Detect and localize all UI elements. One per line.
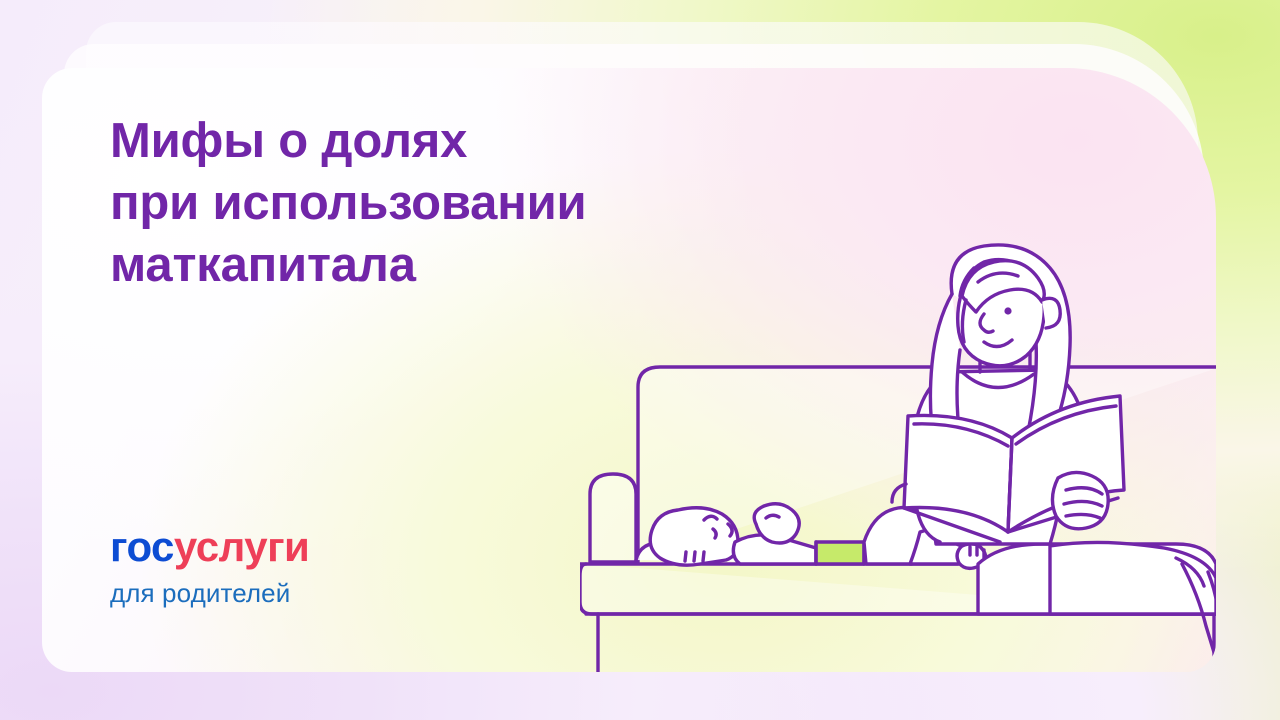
book-bottom-left [904, 508, 1000, 542]
woman-mouth [984, 340, 1012, 347]
woman-lap [978, 544, 1216, 614]
baby-arm [754, 504, 799, 543]
woman-hair-strand-2 [960, 268, 974, 296]
woman-arm-right [1048, 370, 1090, 498]
woman-fringe [962, 261, 1044, 312]
woman-hair-strand-1 [962, 300, 966, 342]
woman-ear [1042, 298, 1060, 328]
book-page-curl-right [1016, 406, 1116, 444]
woman-knee-line [1176, 558, 1204, 586]
woman-nose [980, 314, 993, 332]
sofa-seat [580, 564, 1216, 614]
sofa-armrest [590, 474, 636, 562]
woman-fingers-right [1064, 488, 1102, 518]
illustration-mother-reading-with-baby [580, 242, 1216, 672]
baby-torso [733, 535, 816, 564]
gosuslugi-logo[interactable]: госуслуги для родителей [110, 526, 309, 606]
book-page-right [1008, 396, 1124, 532]
book-page-curl-left [914, 424, 1008, 446]
book-bottom-right [1008, 498, 1118, 532]
woman-neckline [962, 372, 1034, 388]
baby-leg-lower [910, 529, 963, 564]
logo-wordmark: госуслуги [110, 526, 309, 568]
baby-nose [728, 524, 732, 536]
sofa-backrest [638, 367, 1216, 562]
baby-eyebrow [704, 516, 717, 520]
woman-shin-2 [1208, 572, 1216, 638]
woman-hair-back-left [930, 294, 960, 456]
woman-fringe-line [978, 273, 1018, 282]
baby-leg-upper [864, 508, 931, 565]
baby-pillow [636, 542, 742, 562]
main-content-card: Мифы о долях при использовании маткапита… [42, 68, 1216, 672]
baby-diaper [816, 542, 864, 564]
woman-arm-left [912, 376, 942, 542]
open-book [904, 396, 1124, 542]
woman-eye [1004, 307, 1011, 314]
woman-thigh [1050, 542, 1216, 614]
baby-toes-1 [962, 521, 976, 532]
logo-subtitle: для родителей [110, 580, 309, 606]
sofa-group [580, 367, 1216, 672]
woman-hair-back [951, 245, 1070, 454]
woman-hand-left [892, 484, 906, 502]
baby-hair-3 [703, 552, 704, 561]
woman-torso [930, 370, 1065, 544]
woman-neck [980, 336, 1030, 372]
page-title: Мифы о долях при использовании маткапита… [110, 110, 730, 297]
logo-wordmark-gos: гос [110, 523, 174, 570]
baby-eye [713, 529, 716, 538]
woman-face [958, 260, 1045, 366]
baby-hand [766, 515, 779, 518]
book-page-left [904, 415, 1012, 532]
baby-hair-1 [685, 552, 686, 561]
woman-group [892, 245, 1216, 672]
baby-foot-lower [957, 544, 986, 569]
baby-toes-2 [970, 547, 984, 558]
baby-hair-2 [694, 552, 695, 561]
book-spine [1008, 438, 1012, 532]
woman-shin [1182, 564, 1216, 672]
baby-head [650, 508, 738, 565]
baby-foot-upper [949, 518, 978, 545]
woman-hand-right [1052, 472, 1108, 528]
logo-wordmark-uslugi: услуги [174, 523, 309, 570]
baby-group [636, 504, 986, 569]
